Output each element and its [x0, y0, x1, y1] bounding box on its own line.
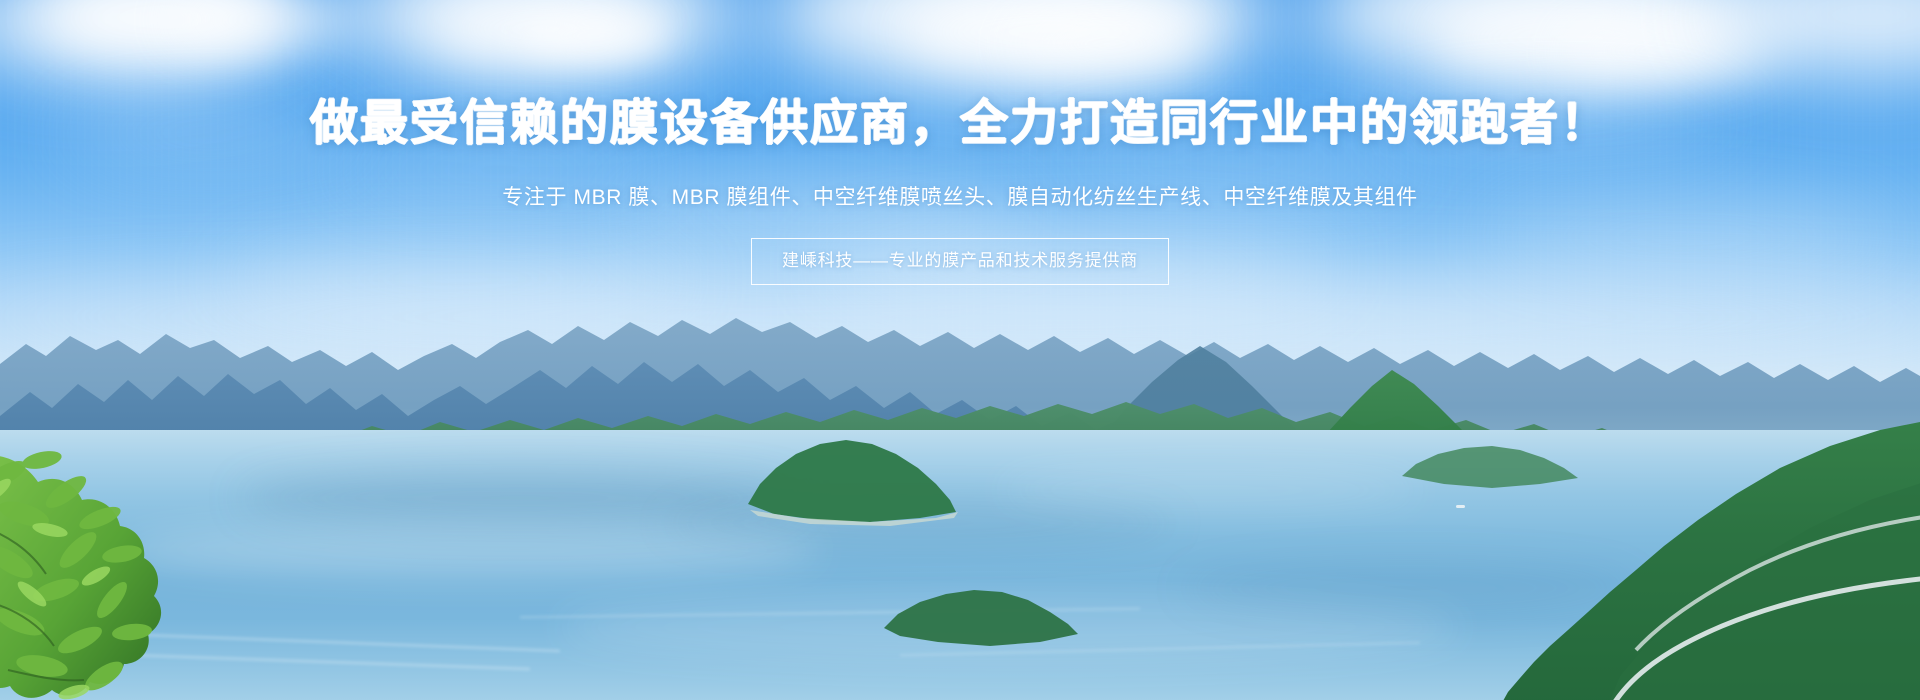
boat	[1456, 505, 1465, 508]
hero-subtitle: 专注于 MBR 膜、MBR 膜组件、中空纤维膜喷丝头、膜自动化纺丝生产线、中空纤…	[0, 151, 1920, 212]
hero-banner: 做最受信赖的膜设备供应商，全力打造同行业中的领跑者！ 专注于 MBR 膜、MBR…	[0, 0, 1920, 700]
foreground-foliage	[0, 430, 240, 700]
cta-wrapper: 建嵊科技——专业的膜产品和技术服务提供商	[0, 212, 1920, 285]
right-foreground-hill	[1050, 420, 1920, 700]
hero-copy: 做最受信赖的膜设备供应商，全力打造同行业中的领跑者！ 专注于 MBR 膜、MBR…	[0, 0, 1920, 285]
lake-island	[740, 418, 1000, 528]
page-title: 做最受信赖的膜设备供应商，全力打造同行业中的领跑者！	[0, 0, 1920, 151]
tagline-button[interactable]: 建嵊科技——专业的膜产品和技术服务提供商	[751, 238, 1169, 285]
